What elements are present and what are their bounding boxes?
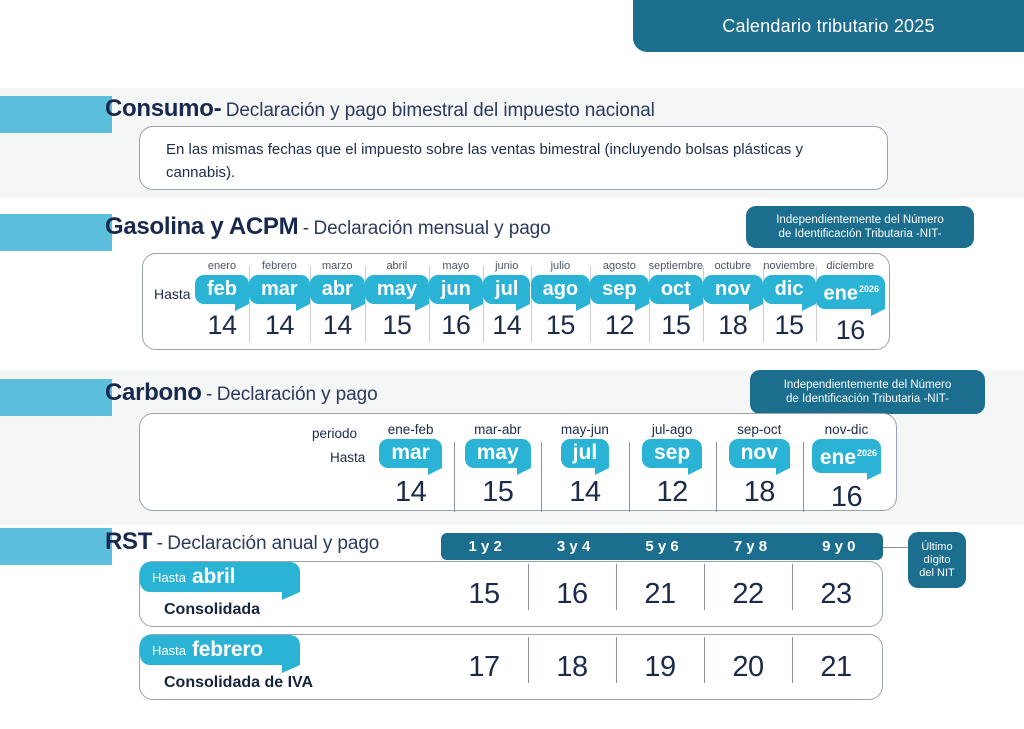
badge-year-superscript: 2026	[857, 448, 877, 458]
gasolina-month-label: agosto	[603, 260, 636, 272]
carbono-column-sep-oct: sep-octnov18	[716, 422, 803, 514]
carbono-period-label: nov-dic	[825, 422, 869, 437]
section-tab-consumo	[0, 96, 112, 133]
gasolina-card: Hasta enerofeb14febreromar14marzoabr14ab…	[142, 253, 890, 350]
gasolina-month-label: abril	[386, 260, 407, 272]
section-title-carbono: Carbono - Declaración y pago	[105, 379, 378, 407]
carbono-period-label: mar-abr	[474, 422, 521, 437]
carbono-due-month-badge: may	[465, 439, 531, 468]
gasolina-due-month-badge: ene2026	[816, 275, 886, 309]
rst-row-2-month-tab: Hasta febrero	[140, 635, 300, 665]
carbono-due-month-badge: jul	[561, 439, 610, 468]
gasolina-due-month-badge: abr	[310, 275, 365, 304]
rst-due-day: 15	[440, 578, 528, 611]
carbono-card: periodo Hasta ene-febmar14mar-abrmay15ma…	[139, 413, 897, 511]
rst-due-day: 17	[440, 651, 528, 684]
page-title: Calendario tributario 2025	[722, 16, 934, 37]
gasolina-month-label: diciembre	[826, 260, 874, 272]
nit-note-carbono-line2: de Identificación Tributaria -NIT-	[786, 392, 949, 406]
section-dash-rst: -	[157, 533, 163, 554]
carbono-period-label: sep-oct	[737, 422, 781, 437]
section-dash-gasolina: -	[303, 218, 309, 239]
gasolina-column-marzo: marzoabr14	[310, 260, 365, 346]
carbono-due-day: 16	[831, 481, 862, 514]
nit-note-carbono: Independientemente del Número de Identif…	[750, 370, 985, 414]
section-dash-consumo: -	[214, 95, 222, 122]
gasolina-month-label: noviembre	[763, 260, 814, 272]
rst-digit-header: 1 y 23 y 45 y 67 y 89 y 0	[441, 533, 883, 560]
gasolina-column-abril: abrilmay15	[365, 260, 429, 346]
rst-row-1-month: abril	[192, 565, 235, 589]
gasolina-due-day: 14	[492, 310, 521, 341]
gasolina-due-month-badge: jul	[483, 275, 530, 304]
carbono-column-may-jun: may-junjul14	[541, 422, 628, 514]
gasolina-due-day: 14	[323, 310, 352, 341]
rst-row-2-values: 1718192021	[440, 635, 880, 699]
rst-due-day: 23	[792, 578, 880, 611]
rst-due-day: 21	[792, 651, 880, 684]
rst-row-1-values: 1516212223	[440, 562, 880, 626]
badge-year-superscript: 2026	[859, 284, 879, 294]
carbono-due-day: 14	[569, 476, 600, 509]
carbono-due-month-badge: mar	[379, 439, 442, 468]
gasolina-due-day: 14	[207, 310, 236, 341]
gasolina-due-day: 15	[546, 310, 575, 341]
gasolina-due-day: 16	[441, 310, 470, 341]
gasolina-due-month-badge: mar	[249, 275, 310, 304]
section-title-gasolina: Gasolina y ACPM - Declaración mensual y …	[105, 213, 551, 241]
gasolina-column-diciembre: diciembreene202616	[816, 260, 886, 346]
carbono-period-label: jul-ago	[652, 422, 693, 437]
section-tab-rst	[0, 528, 112, 565]
gasolina-due-month-badge: oct	[649, 275, 703, 304]
carbono-periodo-label: periodo	[312, 426, 357, 441]
gasolina-columns: enerofeb14febreromar14marzoabr14abrilmay…	[195, 260, 885, 346]
rst-due-day: 18	[528, 651, 616, 684]
nit-note-gasolina-line1: Independientemente del Número	[776, 213, 944, 227]
carbono-column-jul-ago: jul-agosep12	[629, 422, 716, 514]
carbono-columns: ene-febmar14mar-abrmay15may-junjul14jul-…	[367, 422, 890, 514]
carbono-due-month-badge: sep	[642, 439, 702, 468]
rst-digit-group: 1 y 2	[441, 538, 529, 555]
rst-due-day: 20	[704, 651, 792, 684]
rst-due-day: 16	[528, 578, 616, 611]
carbono-column-ene-feb: ene-febmar14	[367, 422, 454, 514]
carbono-due-day: 12	[656, 476, 687, 509]
gasolina-month-label: mayo	[442, 260, 469, 272]
gasolina-due-day: 18	[718, 310, 747, 341]
gasolina-due-month-badge: sep	[590, 275, 648, 304]
rst-digit-group: 3 y 4	[529, 538, 617, 555]
carbono-period-label: ene-feb	[388, 422, 434, 437]
carbono-due-month-badge: nov	[729, 439, 790, 468]
consumo-note-card: En las mismas fechas que el impuesto sob…	[139, 126, 888, 190]
gasolina-month-label: enero	[208, 260, 236, 272]
section-name-gasolina: Gasolina y ACPM	[105, 213, 298, 240]
gasolina-due-day: 15	[382, 310, 411, 341]
rst-digit-group: 7 y 8	[706, 538, 794, 555]
section-dash-carbono: -	[206, 384, 212, 405]
section-desc-rst: Declaración anual y pago	[167, 533, 379, 554]
carbono-due-day: 15	[482, 476, 513, 509]
gasolina-hasta-label: Hasta	[154, 286, 191, 302]
nit-callout-connector	[883, 547, 908, 548]
gasolina-due-month-badge: dic	[763, 275, 816, 304]
gasolina-column-junio: juniojul14	[483, 260, 531, 346]
gasolina-column-noviembre: noviembredic15	[763, 260, 816, 346]
rst-nit-callout-line1: Último	[921, 541, 952, 554]
header-title-pill: Calendario tributario 2025	[633, 0, 1024, 52]
gasolina-due-day: 15	[661, 310, 690, 341]
gasolina-due-month-badge: jun	[429, 275, 483, 304]
section-desc-gasolina: Declaración mensual y pago	[313, 218, 550, 239]
section-tab-carbono	[0, 379, 112, 416]
gasolina-month-label: febrero	[262, 260, 297, 272]
rst-row-2-hasta: Hasta	[152, 643, 186, 658]
gasolina-due-month-badge: ago	[531, 275, 591, 304]
section-title-rst: RST - Declaración anual y pago	[105, 528, 379, 556]
nit-note-gasolina: Independientemente del Número de Identif…	[746, 206, 974, 248]
rst-row-1-label: Consolidada	[164, 601, 260, 619]
gasolina-due-month-badge: nov	[703, 275, 763, 304]
gasolina-column-julio: julioago15	[531, 260, 591, 346]
gasolina-column-septiembre: septiembreoct15	[649, 260, 703, 346]
gasolina-month-label: octubre	[714, 260, 751, 272]
gasolina-month-label: junio	[495, 260, 518, 272]
rst-row-1-month-tab: Hasta abril	[140, 562, 300, 592]
rst-row-2-month: febrero	[192, 638, 263, 662]
gasolina-month-label: julio	[551, 260, 571, 272]
gasolina-due-day: 14	[265, 310, 294, 341]
carbono-column-mar-abr: mar-abrmay15	[454, 422, 541, 514]
rst-due-day: 22	[704, 578, 792, 611]
rst-row-2-label: Consolidada de IVA	[164, 674, 313, 692]
rst-nit-callout: Último dígito del NIT	[908, 532, 966, 588]
gasolina-due-day: 15	[775, 310, 804, 341]
carbono-period-label: may-jun	[561, 422, 609, 437]
gasolina-column-mayo: mayojun16	[429, 260, 483, 346]
section-name-carbono: Carbono	[105, 379, 202, 406]
carbono-due-month-badge: ene2026	[812, 439, 881, 473]
gasolina-due-month-badge: feb	[195, 275, 249, 304]
gasolina-column-enero: enerofeb14	[195, 260, 249, 346]
section-desc-consumo: Declaración y pago bimestral del impuest…	[226, 100, 655, 121]
carbono-due-day: 14	[395, 476, 426, 509]
section-desc-carbono: Declaración y pago	[217, 384, 378, 405]
rst-row-2: Hasta febrero Consolidada de IVA 1718192…	[139, 634, 883, 700]
rst-digit-group: 9 y 0	[795, 538, 883, 555]
gasolina-month-label: marzo	[322, 260, 353, 272]
carbono-due-day: 18	[744, 476, 775, 509]
gasolina-due-day: 16	[836, 315, 865, 346]
rst-due-day: 19	[616, 651, 704, 684]
section-title-consumo: Consumo- Declaración y pago bimestral de…	[105, 95, 655, 123]
gasolina-month-label: septiembre	[649, 260, 703, 272]
gasolina-due-month-badge: may	[365, 275, 429, 304]
nit-note-gasolina-line2: de Identificación Tributaria -NIT-	[779, 227, 942, 241]
section-name-rst: RST	[105, 528, 152, 555]
gasolina-column-octubre: octubrenov18	[703, 260, 763, 346]
gasolina-column-agosto: agostosep12	[590, 260, 648, 346]
rst-due-day: 21	[616, 578, 704, 611]
carbono-column-nov-dic: nov-dicene202616	[803, 422, 890, 514]
gasolina-column-febrero: febreromar14	[249, 260, 310, 346]
rst-nit-callout-line2: dígito	[924, 554, 951, 567]
carbono-hasta-label: Hasta	[330, 450, 365, 465]
consumo-note-text: En las mismas fechas que el impuesto sob…	[166, 138, 856, 184]
rst-row-1: Hasta abril Consolidada 1516212223	[139, 561, 883, 627]
gasolina-due-day: 12	[605, 310, 634, 341]
rst-row-1-hasta: Hasta	[152, 570, 186, 585]
section-tab-gasolina	[0, 214, 112, 251]
section-name-consumo: Consumo	[105, 95, 214, 122]
rst-nit-callout-line3: del NIT	[919, 567, 954, 580]
nit-note-carbono-line1: Independientemente del Número	[784, 378, 952, 392]
rst-digit-group: 5 y 6	[618, 538, 706, 555]
